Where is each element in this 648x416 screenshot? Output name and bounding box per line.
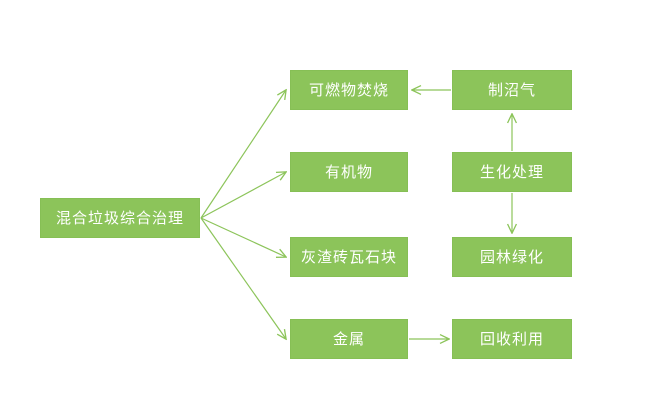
node-recycling-label: 回收利用: [480, 332, 544, 347]
node-recycling[interactable]: 回收利用: [452, 319, 572, 359]
node-organic-matter[interactable]: 有机物: [290, 152, 408, 192]
node-source-label: 混合垃圾综合治理: [56, 211, 184, 226]
node-biogas-production-label: 制沼气: [488, 83, 536, 98]
edge-source-to-ash: [201, 218, 286, 257]
node-ash-bricks-tiles-stones-label: 灰渣砖瓦石块: [301, 250, 397, 265]
node-landscaping[interactable]: 园林绿化: [452, 237, 572, 277]
edge-source-to-organic: [201, 172, 286, 218]
node-biochemical-treatment[interactable]: 生化处理: [452, 152, 572, 192]
edge-source-to-burn: [201, 90, 286, 218]
node-ash-bricks-tiles-stones[interactable]: 灰渣砖瓦石块: [290, 237, 408, 277]
node-combustible-incineration[interactable]: 可燃物焚烧: [290, 70, 408, 110]
node-metal-label: 金属: [333, 332, 365, 347]
edge-source-to-metal: [201, 218, 286, 339]
diagram-canvas: 混合垃圾综合治理 可燃物焚烧 有机物 灰渣砖瓦石块 金属 制沼气 生化处理 园林…: [0, 0, 648, 416]
node-biogas-production[interactable]: 制沼气: [452, 70, 572, 110]
node-landscaping-label: 园林绿化: [480, 250, 544, 265]
node-combustible-incineration-label: 可燃物焚烧: [309, 83, 389, 98]
node-organic-matter-label: 有机物: [325, 165, 373, 180]
node-source[interactable]: 混合垃圾综合治理: [40, 198, 200, 238]
node-biochemical-treatment-label: 生化处理: [480, 165, 544, 180]
node-metal[interactable]: 金属: [290, 319, 408, 359]
